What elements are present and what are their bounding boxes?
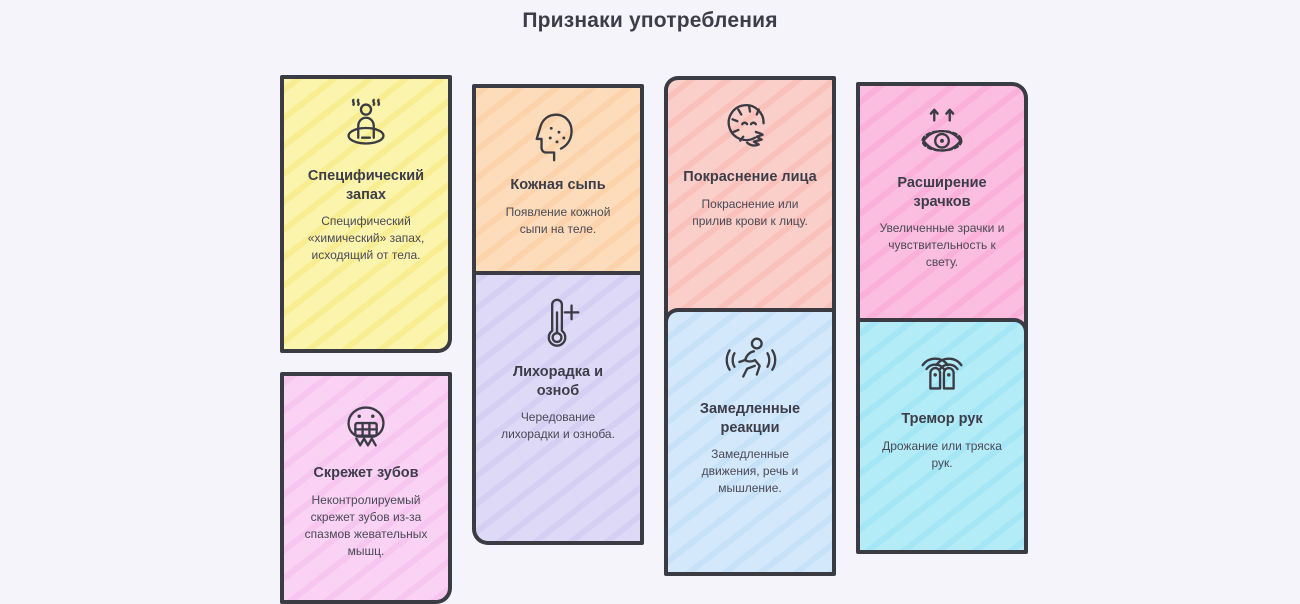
grinding-teeth-icon xyxy=(335,394,397,456)
card-description: Замедленные движения, речь и мышление. xyxy=(680,446,820,497)
card-description: Появление кожной сыпи на теле. xyxy=(488,204,628,238)
smell-body-icon xyxy=(335,97,397,159)
card-description: Неконтролируемый скрежет зубов из-за спа… xyxy=(296,492,436,560)
card-fever-chills[interactable]: Лихорадка и озноб Чередование лихорадки … xyxy=(472,271,644,545)
card-description: Чередование лихорадки и озноба. xyxy=(488,409,628,443)
card-facial-redness[interactable]: Покраснение лица Покраснение или прилив … xyxy=(664,76,836,338)
flushed-face-icon xyxy=(719,98,781,160)
dilated-eye-icon xyxy=(911,104,973,166)
card-description: Специфический «химический» запах, исходя… xyxy=(296,213,436,264)
card-specific-smell[interactable]: Специфический запах Специфический «химич… xyxy=(280,75,452,353)
card-title: Лихорадка и озноб xyxy=(488,363,628,400)
card-title: Специфический запах xyxy=(296,167,436,204)
card-title: Тремор рук xyxy=(899,410,984,429)
card-description: Дрожание или тряска рук. xyxy=(872,438,1012,472)
card-title: Расширение зрачков xyxy=(872,174,1012,211)
card-teeth-grinding[interactable]: Скрежет зубов Неконтролируемый скрежет з… xyxy=(280,372,452,604)
trembling-hands-icon xyxy=(911,340,973,402)
head-rash-icon xyxy=(527,106,589,168)
cards-board: Специфический запах Специфический «химич… xyxy=(270,62,1050,542)
card-title: Скрежет зубов xyxy=(311,464,420,483)
card-title: Замедленные реакции xyxy=(680,400,820,437)
card-description: Увеличенные зрачки и чувствительность к … xyxy=(872,220,1012,271)
card-hand-tremor[interactable]: Тремор рук Дрожание или тряска рук. xyxy=(856,318,1028,554)
slow-runner-icon xyxy=(719,330,781,392)
page-title: Признаки употребления xyxy=(0,9,1300,33)
thermometer-icon xyxy=(527,293,589,355)
card-skin-rash[interactable]: Кожная сыпь Появление кожной сыпи на тел… xyxy=(472,84,644,294)
card-description: Покраснение или прилив крови к лицу. xyxy=(680,196,820,230)
card-title: Покраснение лица xyxy=(681,168,818,187)
card-title: Кожная сыпь xyxy=(508,176,607,195)
card-slowed-reactions[interactable]: Замедленные реакции Замедленные движения… xyxy=(664,308,836,576)
